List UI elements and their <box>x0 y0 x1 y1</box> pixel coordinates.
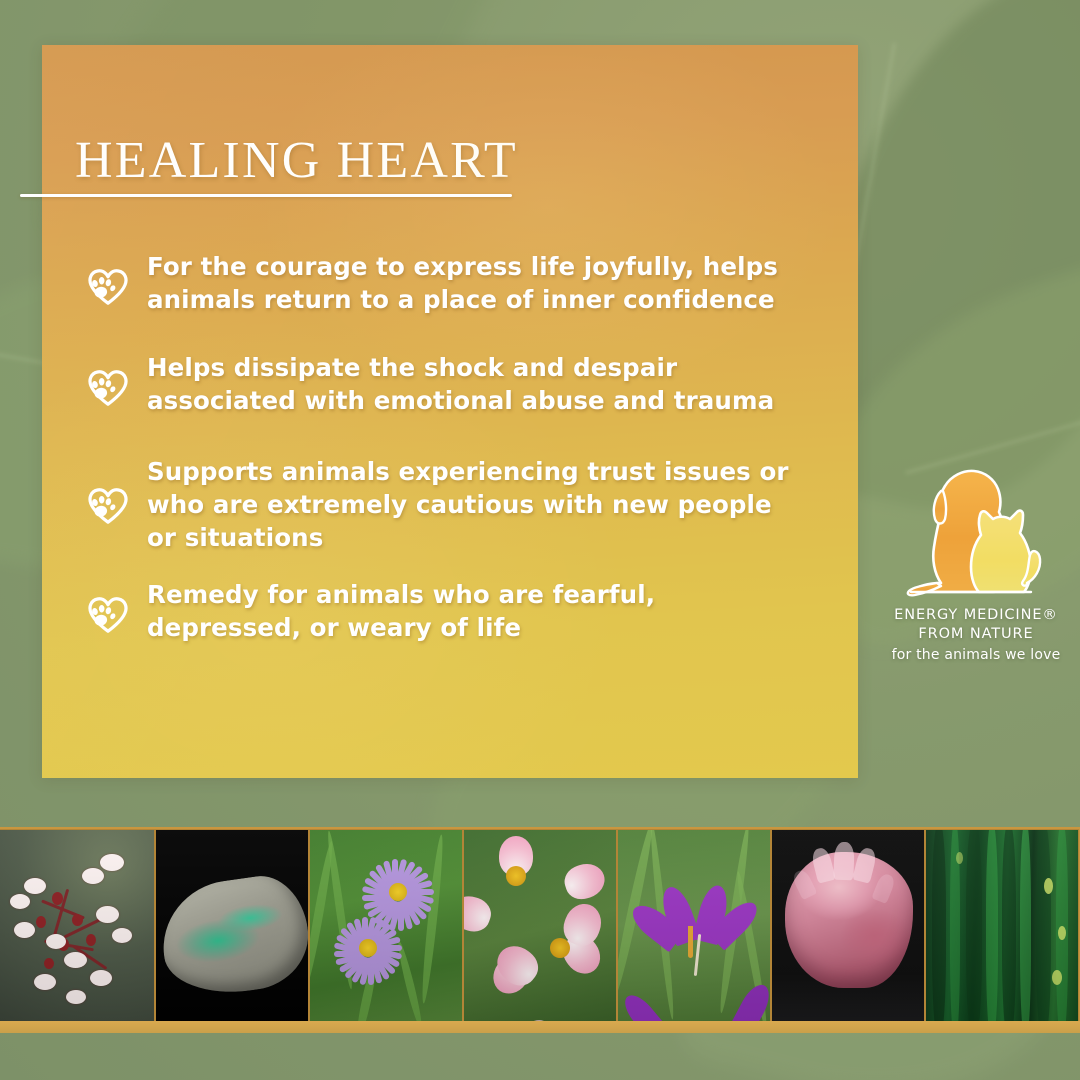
title-divider <box>20 194 512 197</box>
list-item: Remedy for animals who are fearful, depr… <box>85 578 805 644</box>
list-item: For the courage to express life joyfully… <box>85 250 805 316</box>
heart-paw-icon <box>85 590 131 636</box>
rose-quartz-crystal-photo <box>772 830 924 1030</box>
image-strip-bottom-border <box>0 1021 1080 1033</box>
purple-aster-flowers-photo <box>310 830 462 1030</box>
pink-wild-rose-photo <box>464 830 616 1030</box>
white-pink-flowers-photo <box>0 830 154 1030</box>
brand-logo: ENERGY MEDICINE® FROM NATURE for the ani… <box>888 455 1064 663</box>
logo-line-1: ENERGY MEDICINE® <box>888 607 1064 623</box>
green-stone-photo <box>156 830 308 1030</box>
page-title: HEALING HEART <box>75 131 518 190</box>
list-item-text: Supports animals experiencing trust issu… <box>147 455 805 554</box>
image-strip <box>0 827 1080 1033</box>
dog-and-cat-silhouette-icon <box>901 455 1051 603</box>
heart-paw-icon <box>85 262 131 308</box>
list-item-text: Helps dissipate the shock and despair as… <box>147 351 805 417</box>
list-item: Helps dissipate the shock and despair as… <box>85 351 805 417</box>
heart-paw-icon <box>85 481 131 527</box>
heart-paw-icon <box>85 363 131 409</box>
logo-line-2: FROM NATURE <box>888 626 1064 642</box>
list-item-text: Remedy for animals who are fearful, depr… <box>147 578 805 644</box>
list-item-text: For the courage to express life joyfully… <box>147 250 805 316</box>
purple-flower-photo <box>618 830 770 1030</box>
list-item: Supports animals experiencing trust issu… <box>85 455 805 554</box>
benefit-list: For the courage to express life joyfully… <box>85 250 805 671</box>
logo-tagline: for the animals we love <box>888 647 1064 663</box>
green-seaweed-photo <box>926 830 1078 1030</box>
poster-canvas: HEALING HEART For the courage to express… <box>0 0 1080 1080</box>
